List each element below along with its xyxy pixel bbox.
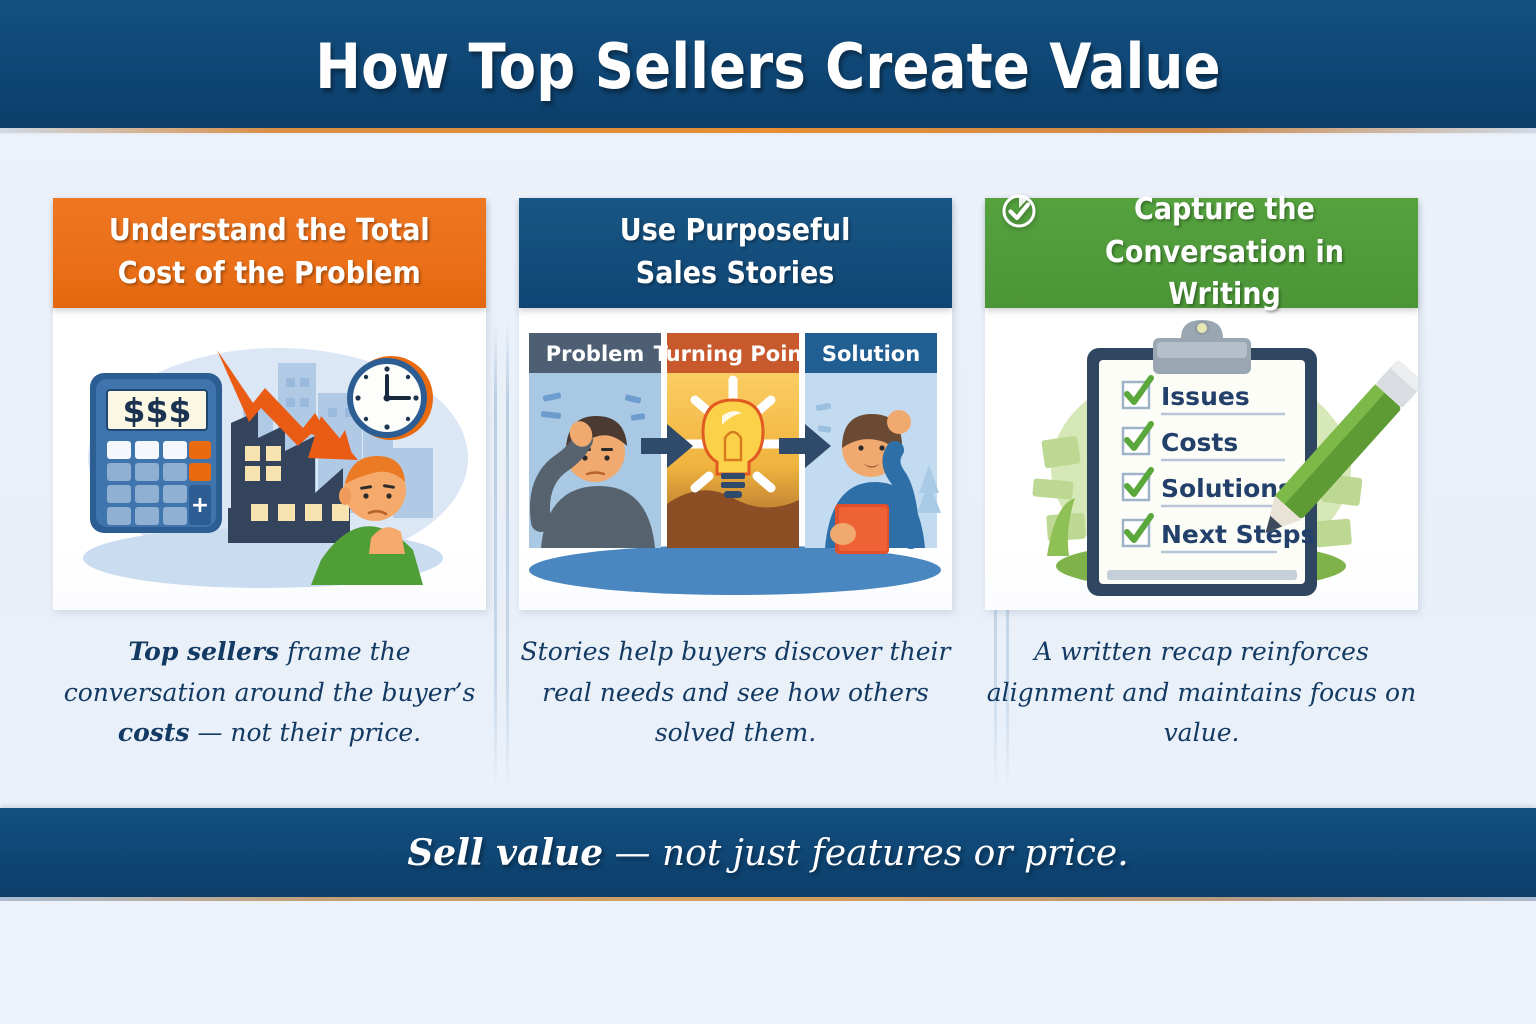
page-title: How Top Sellers Create Value xyxy=(92,30,1444,103)
card-header-capture-in-writing: Capture the Conversation in Writing xyxy=(985,198,1418,308)
footer-tagline-rest: — not just features or price. xyxy=(603,833,1129,874)
caption-mid-3: A written recap reinforces alignment and… xyxy=(987,637,1416,747)
storyboard-panel-label-problem: Problem xyxy=(546,342,645,366)
caption-emph-1: costs xyxy=(118,718,190,747)
caption-tail-1: — not their price. xyxy=(190,718,422,747)
checklist-item-1: Issues xyxy=(1161,382,1250,411)
storyboard-panel-label-turning-point: Turning Point xyxy=(654,342,813,366)
infographic-page: How Top Sellers Create Value Understand … xyxy=(0,0,1536,1024)
card-title-sales-stories: Use Purposeful Sales Stories xyxy=(620,210,851,295)
header-band: How Top Sellers Create Value xyxy=(0,0,1536,128)
card-title-capture-in-writing: Capture the Conversation in Writing xyxy=(1065,189,1385,317)
caption-capture-in-writing: A written recap reinforces alignment and… xyxy=(985,632,1418,754)
circle-check-icon xyxy=(1001,193,1037,229)
calculator-factory-clock-illustration: $$$ xyxy=(53,308,486,610)
card-title-total-cost: Understand the Total Cost of the Problem xyxy=(109,210,430,295)
header-accent-rule xyxy=(0,128,1536,133)
card-sales-stories: Use Purposeful Sales Stories Problem xyxy=(519,198,952,610)
checklist-item-2: Costs xyxy=(1161,428,1238,457)
footer-tagline-lead: Sell value xyxy=(407,832,603,874)
footer-tagline: Sell value — not just features or price. xyxy=(407,832,1128,874)
checklist-item-4: Next Steps xyxy=(1161,520,1315,549)
card-capture-in-writing: Capture the Conversation in Writing xyxy=(985,198,1418,610)
captions-row: Top sellers frame the conversation aroun… xyxy=(53,632,1483,754)
footer-band: Sell value — not just features or price. xyxy=(0,808,1536,897)
card-body-sales-stories: Problem xyxy=(519,308,952,610)
card-total-cost: Understand the Total Cost of the Problem xyxy=(53,198,486,610)
card-header-sales-stories: Use Purposeful Sales Stories xyxy=(519,198,952,308)
clipboard-checklist-illustration: Issues Costs Solutions xyxy=(985,308,1418,610)
card-body-total-cost: $$$ xyxy=(53,308,486,610)
caption-sales-stories: Stories help buyers discover their real … xyxy=(519,632,952,754)
card-header-total-cost: Understand the Total Cost of the Problem xyxy=(53,198,486,308)
storyboard-panel-label-solution: Solution xyxy=(822,342,920,366)
checklist-item-3: Solutions xyxy=(1161,474,1293,503)
svg-text:$$$: $$$ xyxy=(123,391,192,430)
caption-mid-2: Stories help buyers discover their real … xyxy=(521,637,951,747)
footer-accent-rule xyxy=(0,897,1536,901)
caption-lead-1: Top sellers xyxy=(128,637,279,666)
svg-text:+: + xyxy=(191,493,209,518)
caption-total-cost: Top sellers frame the conversation aroun… xyxy=(53,632,486,754)
three-panel-storyboard-illustration: Problem xyxy=(519,308,952,610)
card-body-capture-in-writing: Issues Costs Solutions xyxy=(985,308,1418,610)
